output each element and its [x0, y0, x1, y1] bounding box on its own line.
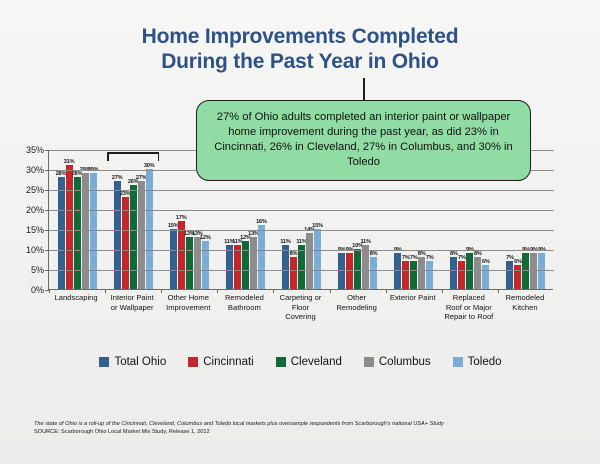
x-axis-category-line: Remodeled: [217, 293, 271, 303]
legend-label: Columbus: [379, 356, 431, 368]
bar-value-label: 7%: [426, 255, 434, 261]
bar-value-label: 11%: [280, 239, 290, 245]
bar-value-label: 7%: [506, 255, 514, 261]
callout-leader-horizontal: [107, 152, 159, 154]
bar: 13%: [194, 237, 201, 289]
legend-label: Cleveland: [291, 356, 342, 368]
slide-canvas: Home Improvements Completed During the P…: [0, 0, 600, 464]
bar: 12%: [242, 241, 249, 289]
y-axis-tick-label: 5%: [31, 265, 44, 275]
x-axis-category-line: or Wallpaper: [105, 303, 159, 313]
y-axis-tick-label: 25%: [26, 185, 44, 195]
y-axis-tick-label: 0%: [31, 285, 44, 295]
x-axis-category-line: Exterior Paint: [386, 293, 440, 303]
callout-box: 27% of Ohio adults completed an interior…: [196, 100, 531, 181]
bar: 9%: [530, 253, 537, 289]
x-axis-category-line: Roof or Major: [442, 303, 496, 313]
x-axis-category-label: Other HomeImprovement: [160, 293, 216, 322]
bar: 9%: [538, 253, 545, 289]
x-axis-category-label: OtherRemodeling: [329, 293, 385, 322]
y-axis-tick-mark: [45, 230, 49, 231]
y-axis-tick-mark: [45, 290, 49, 291]
bar: 8%: [290, 257, 297, 289]
legend-item: Columbus: [364, 356, 431, 368]
bar: 8%: [370, 257, 377, 289]
bar: 11%: [362, 245, 369, 289]
bar: 27%: [114, 181, 121, 289]
bar: 9%: [338, 253, 345, 289]
bar: 9%: [346, 253, 353, 289]
y-axis-tick-mark: [45, 250, 49, 251]
y-gridline: [49, 190, 554, 191]
y-axis-tick-mark: [45, 150, 49, 151]
y-gridline: [49, 210, 554, 211]
bar-value-label: 6%: [482, 259, 490, 265]
callout-leader-left-tick: [107, 152, 109, 161]
y-gridline: [49, 270, 554, 271]
x-axis-category-label: Exterior Paint: [385, 293, 441, 322]
bar: 11%: [226, 245, 233, 289]
x-axis-category-line: Remodeled: [498, 293, 552, 303]
bar-value-label: 16%: [256, 219, 267, 225]
callout-text: 27% of Ohio adults completed an interior…: [214, 111, 513, 168]
x-axis-category-label: ReplacedRoof or MajorRepair to Roof: [441, 293, 497, 322]
x-axis-category-line: Replaced: [442, 293, 496, 303]
y-gridline: [49, 250, 554, 251]
page-title: Home Improvements Completed During the P…: [0, 24, 600, 74]
bar: 14%: [306, 233, 313, 289]
x-axis-category-line: Covering: [273, 312, 327, 322]
x-axis-category-line: Landscaping: [49, 293, 103, 303]
callout-leader-right-tick: [158, 152, 160, 161]
bar-value-label: 17%: [176, 215, 187, 221]
legend-swatch: [276, 357, 286, 367]
x-axis-category-label: RemodeledKitchen: [497, 293, 553, 322]
bar-value-label: 8%: [370, 251, 378, 257]
x-axis-category-label: Interior Paintor Wallpaper: [104, 293, 160, 322]
bar: 11%: [298, 245, 305, 289]
footnote-source: SOURCE: Scarborough Ohio Local Market Mi…: [34, 428, 574, 436]
bar: 15%: [170, 229, 177, 289]
bar: 26%: [130, 185, 137, 289]
bar: 7%: [458, 261, 465, 289]
y-axis-tick-label: 35%: [26, 145, 44, 155]
callout-leader-vertical: [363, 78, 365, 102]
x-axis-category-label: RemodeledBathroom: [216, 293, 272, 322]
bar-value-label: 8%: [290, 251, 298, 257]
bar: 7%: [506, 261, 513, 289]
bar-value-label: 15%: [312, 223, 323, 229]
y-axis-tick-label: 30%: [26, 165, 44, 175]
bar: 28%: [74, 177, 81, 289]
bar-value-label: 7%: [458, 255, 466, 261]
legend-label: Total Ohio: [114, 356, 166, 368]
title-line-2: During the Past Year in Ohio: [0, 49, 600, 74]
legend-label: Toledo: [468, 356, 502, 368]
bar: 8%: [418, 257, 425, 289]
bar-value-label: 8%: [474, 251, 482, 257]
y-axis-tick-mark: [45, 270, 49, 271]
bar: 27%: [138, 181, 145, 289]
bar: 9%: [522, 253, 529, 289]
x-axis-category-line: Remodeling: [330, 303, 384, 313]
x-axis-category-line: Other Home: [161, 293, 215, 303]
bar: 10%: [354, 249, 361, 289]
bar: 6%: [482, 265, 489, 289]
bar: 9%: [394, 253, 401, 289]
footnote-note: The state of Ohio is a roll-up of the Ci…: [34, 420, 574, 428]
bar-value-label: 27%: [112, 175, 123, 181]
x-axis-category-line: Improvement: [161, 303, 215, 313]
bar: 7%: [402, 261, 409, 289]
bar-value-label: 8%: [450, 251, 458, 257]
bar-value-label: 31%: [64, 159, 75, 165]
legend-item: Cincinnati: [188, 356, 254, 368]
bar: 9%: [466, 253, 473, 289]
bar: 30%: [146, 169, 153, 289]
bar: 8%: [450, 257, 457, 289]
y-gridline: [49, 230, 554, 231]
legend-swatch: [453, 357, 463, 367]
y-axis-tick-label: 15%: [26, 225, 44, 235]
chart-legend: Total OhioCincinnatiClevelandColumbusTol…: [48, 356, 553, 368]
bar: 13%: [186, 237, 193, 289]
y-axis-tick-mark: [45, 210, 49, 211]
x-axis-category-line: Interior Paint: [105, 293, 159, 303]
x-axis-category-line: Bathroom: [217, 303, 271, 313]
x-axis-category-line: Repair to Roof: [442, 312, 496, 322]
x-axis-category-line: Kitchen: [498, 303, 552, 313]
legend-swatch: [99, 357, 109, 367]
y-axis-tick-mark: [45, 190, 49, 191]
legend-swatch: [364, 357, 374, 367]
y-axis-tick-label: 20%: [26, 205, 44, 215]
bar: 28%: [58, 177, 65, 289]
x-axis-category-line: Carpeting or: [273, 293, 327, 303]
bar: 11%: [234, 245, 241, 289]
bar: 7%: [426, 261, 433, 289]
x-axis-category-line: Other: [330, 293, 384, 303]
legend-swatch: [188, 357, 198, 367]
x-axis-category-label: Carpeting orFloorCovering: [272, 293, 328, 322]
bar: 12%: [202, 241, 209, 289]
bar: 6%: [514, 265, 521, 289]
x-axis-category-label: Landscaping: [48, 293, 104, 322]
bar: 7%: [410, 261, 417, 289]
bar: 16%: [258, 225, 265, 289]
bar-value-label: 6%: [514, 259, 522, 265]
bar-value-label: 30%: [144, 163, 155, 169]
legend-item: Toledo: [453, 356, 502, 368]
footnote: The state of Ohio is a roll-up of the Ci…: [34, 420, 574, 437]
bar-value-label: 11%: [360, 239, 370, 245]
x-axis-category-line: Floor: [273, 303, 327, 313]
bar-value-label: 7%: [410, 255, 418, 261]
y-axis-tick-label: 10%: [26, 245, 44, 255]
legend-item: Total Ohio: [99, 356, 166, 368]
bar: 15%: [314, 229, 321, 289]
bar-value-label: 8%: [418, 251, 426, 257]
bar-value-label: 7%: [402, 255, 410, 261]
bar: 13%: [250, 237, 257, 289]
title-line-1: Home Improvements Completed: [142, 25, 459, 48]
bar: 8%: [474, 257, 481, 289]
bar-value-label: 12%: [200, 235, 211, 241]
y-axis-tick-mark: [45, 170, 49, 171]
bar: 11%: [282, 245, 289, 289]
x-axis-labels: LandscapingInterior Paintor WallpaperOth…: [48, 293, 553, 322]
legend-item: Cleveland: [276, 356, 342, 368]
legend-label: Cincinnati: [203, 356, 254, 368]
